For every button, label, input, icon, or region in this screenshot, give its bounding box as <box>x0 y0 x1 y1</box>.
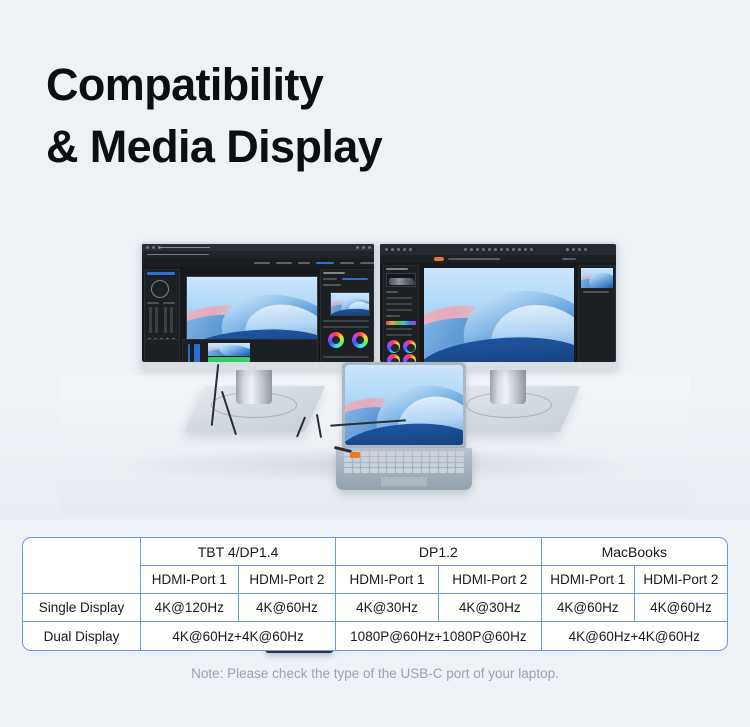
page-title-line-2: & Media Display <box>46 116 606 178</box>
table-port-header: HDMI-Port 1 <box>141 566 239 594</box>
monitor-right-screen <box>380 244 616 362</box>
workspace-tab-active <box>316 262 334 264</box>
table-port-header: HDMI-Port 2 <box>239 566 337 594</box>
adjust-label <box>386 315 400 317</box>
adjust-slider <box>386 297 412 299</box>
usb-c-plug <box>350 452 360 458</box>
laptop-screen <box>345 365 463 445</box>
color-wheel-icon <box>403 354 416 362</box>
reference-thumbnail <box>330 292 370 316</box>
workspace-tab <box>340 262 354 264</box>
fader-track <box>149 307 152 333</box>
panel-field-value <box>342 278 368 280</box>
table-cell: 4K@30Hz <box>336 594 439 622</box>
adjust-slider <box>386 328 412 330</box>
table-group-header: DP1.2 <box>336 538 541 566</box>
clip-audio <box>194 344 200 362</box>
adjust-label <box>386 291 398 293</box>
panel-field-label <box>323 278 337 280</box>
table-port-header: HDMI-Port 1 <box>542 566 635 594</box>
page-title: Compatibility & Media Display <box>46 54 606 178</box>
record-indicator <box>434 257 444 261</box>
table-group-header: TBT 4/DP1.4 <box>141 538 336 566</box>
table-cell: 4K@120Hz <box>141 594 239 622</box>
monitor-neck-right <box>490 366 526 404</box>
laptop-lid <box>342 362 466 448</box>
toolbar-left-icons <box>385 248 412 251</box>
table-row-label: Single Display <box>23 594 141 622</box>
table-row-single-display: Single Display 4K@120Hz 4K@60Hz 4K@30Hz … <box>23 594 727 622</box>
monitor-left-screen <box>142 244 374 362</box>
workspace-tab <box>254 262 270 264</box>
adjust-slider <box>386 309 412 311</box>
panel-tab <box>147 272 175 275</box>
table-port-header: HDMI-Port 1 <box>336 566 439 594</box>
color-wheel-icon <box>387 354 400 362</box>
color-wheel-icon <box>352 332 368 348</box>
fader-track <box>170 307 173 333</box>
laptop-keys <box>344 451 464 473</box>
panel-row <box>163 302 175 304</box>
adjust-slider <box>386 334 412 336</box>
table-row-label: Dual Display <box>23 622 141 650</box>
table-cell-merged: 4K@60Hz+4K@60Hz <box>141 622 336 650</box>
table-cell: 4K@30Hz <box>439 594 542 622</box>
filmstrip-thumbnail <box>581 268 613 288</box>
laptop-trackpad <box>380 476 428 487</box>
workspace-tab <box>276 262 292 264</box>
table-row-dual-display: Dual Display 4K@60Hz+4K@60Hz 1080P@60Hz+… <box>23 622 727 650</box>
histogram <box>386 273 416 287</box>
jog-dial-icon <box>151 280 169 298</box>
app-title-text <box>158 247 210 248</box>
table-port-header: HDMI-Port 2 <box>635 566 727 594</box>
workspace-tab <box>360 262 374 264</box>
timeline-clip-thumbnail <box>208 343 250 356</box>
table-cell: 4K@60Hz <box>542 594 635 622</box>
table-row-groups: TBT 4/DP1.4 DP1.2 MacBooks <box>23 538 727 566</box>
window-controls <box>356 246 371 249</box>
audio-waveform-clip <box>208 357 250 362</box>
panel-title <box>386 268 408 270</box>
table-cell: 4K@60Hz <box>635 594 727 622</box>
color-swatch-strip <box>386 321 416 325</box>
playhead <box>188 344 190 362</box>
product-photo-scene <box>0 200 750 520</box>
timeline-panel <box>182 339 318 362</box>
options-value <box>562 258 576 260</box>
panel-field-label <box>323 284 341 286</box>
slider-track <box>323 356 369 358</box>
table-cell-merged: 4K@60Hz+4K@60Hz <box>542 622 727 650</box>
page-title-line-1: Compatibility <box>46 54 606 116</box>
monitor-neck-left <box>236 366 272 404</box>
toolbar-right-icons <box>566 248 587 251</box>
footer-note: Note: Please check the type of the USB-C… <box>0 666 750 681</box>
monitor-left <box>140 242 376 370</box>
color-wheel-icon <box>328 332 344 348</box>
compatibility-table: TBT 4/DP1.4 DP1.2 MacBooks HDMI-Port 1 H… <box>22 537 728 651</box>
workspace-tab <box>298 262 310 264</box>
laptop-wallpaper <box>345 365 463 445</box>
adjust-slider <box>386 303 412 305</box>
table-cell: 4K@60Hz <box>239 594 337 622</box>
laptop <box>336 362 472 490</box>
table-cell-merged: 1080P@60Hz+1080P@60Hz <box>336 622 541 650</box>
table-corner-blank <box>23 538 141 594</box>
project-panel <box>144 339 180 362</box>
fader-track <box>155 307 158 333</box>
table-port-header: HDMI-Port 2 <box>439 566 542 594</box>
monitor-right <box>378 242 618 370</box>
filename-label <box>448 258 500 260</box>
table-group-header: MacBooks <box>542 538 727 566</box>
slider-track <box>323 320 369 322</box>
toolbar-center-tools <box>464 248 533 251</box>
filmstrip-caption <box>583 291 609 293</box>
app-menu-items <box>147 254 209 255</box>
color-wheel-icon <box>387 340 400 353</box>
fader-track <box>164 307 167 333</box>
panel-title <box>323 272 345 274</box>
panel-row <box>147 302 159 304</box>
photo-canvas <box>424 268 574 362</box>
slider-track <box>323 326 369 328</box>
color-wheel-icon <box>403 340 416 353</box>
